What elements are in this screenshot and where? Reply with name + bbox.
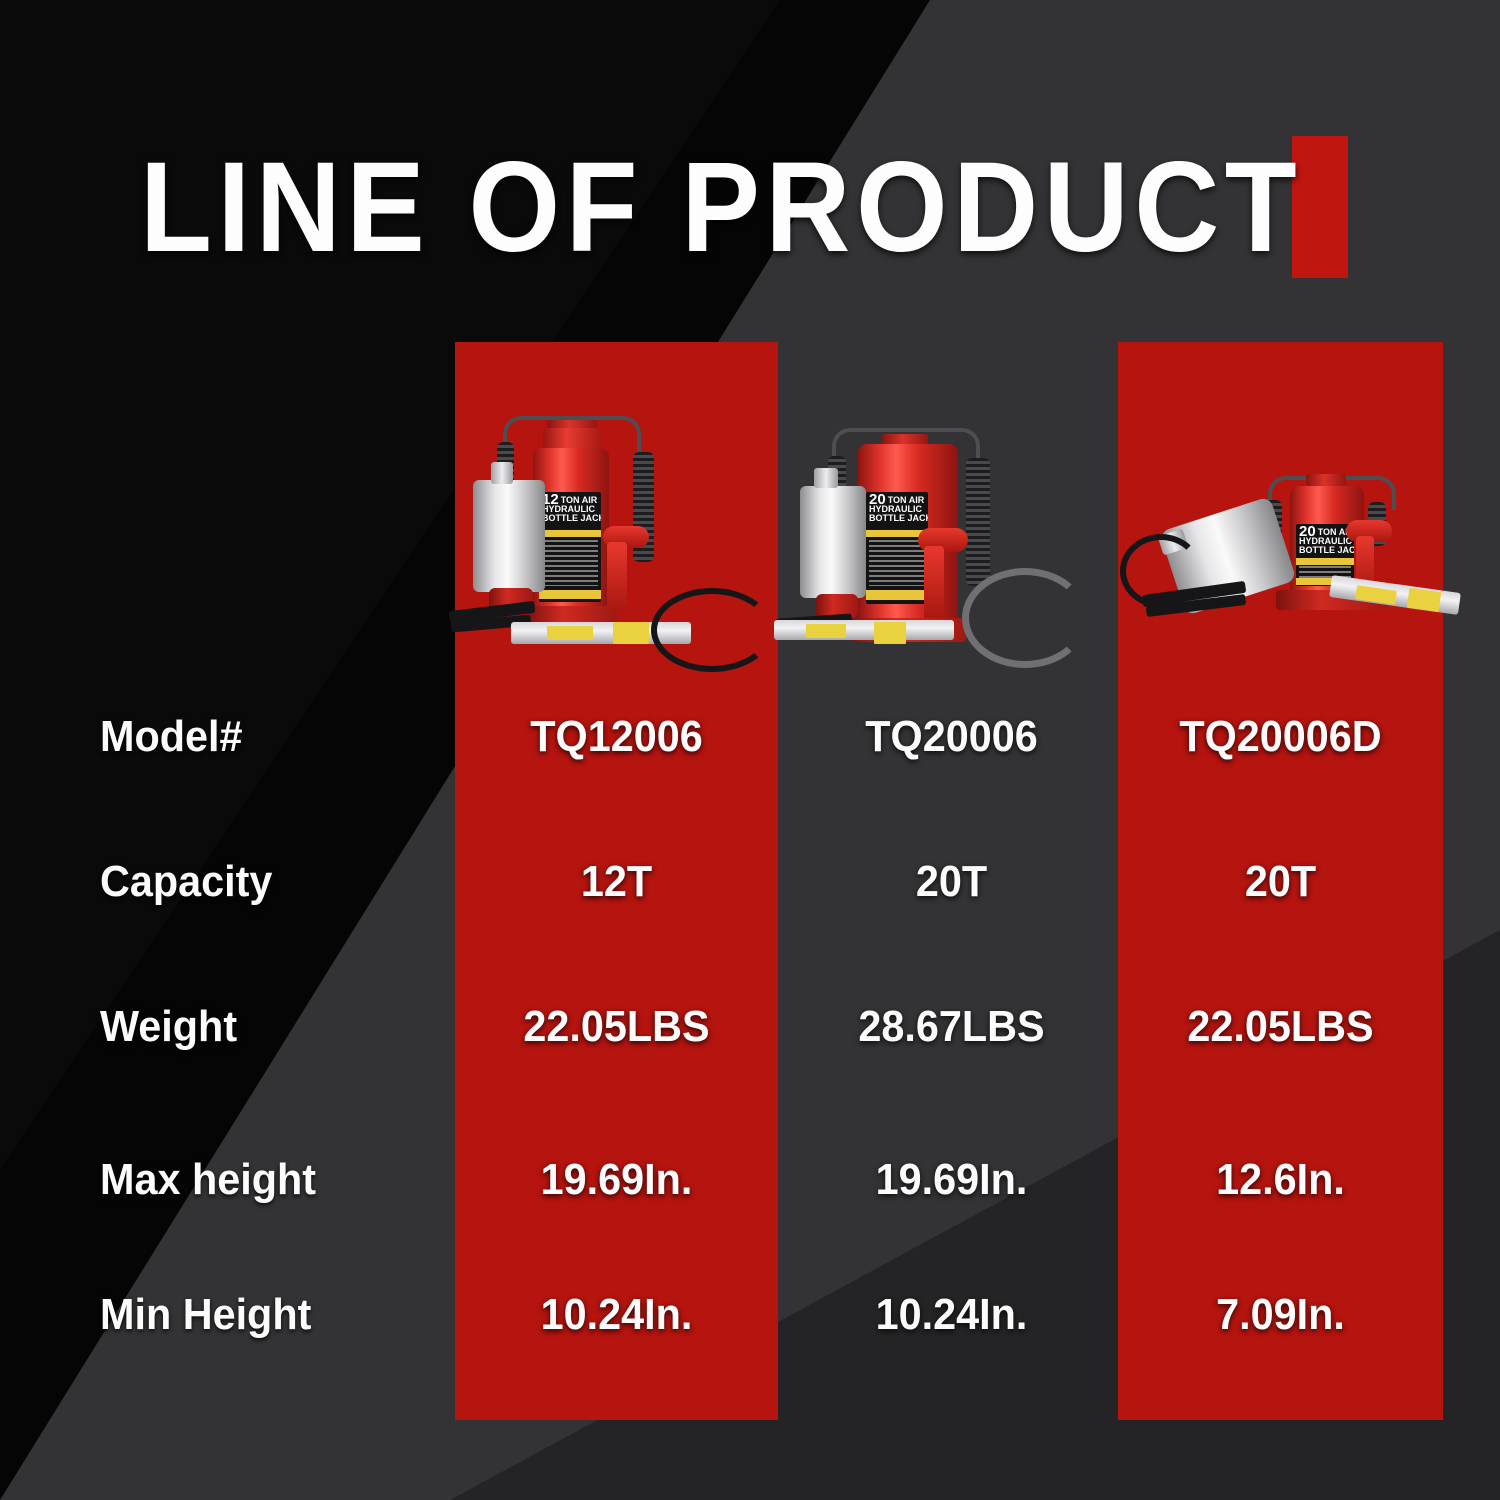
product-image-tq20006: 20TON AIRHYDRAULICBOTTLE JACK: [790, 420, 1113, 720]
spec-value-weight-col2: 28.67LBS: [800, 1002, 1104, 1052]
spec-value-min-height-col3: 7.09In.: [1128, 1290, 1434, 1340]
spec-value-weight-col1: 22.05LBS: [465, 1002, 769, 1052]
spec-label-max-height: Max height: [100, 1155, 420, 1205]
spec-label-capacity: Capacity: [100, 857, 420, 907]
spec-value-capacity-col1: 12T: [465, 857, 769, 907]
page-title-area: LINE OF PRODUCT: [140, 128, 1400, 288]
product-line-infographic: LINE OF PRODUCT 12TON AIRHYDRAULICBOTTLE…: [0, 0, 1500, 1500]
spec-value-min-height-col2: 10.24In.: [800, 1290, 1104, 1340]
spec-label-model: Model#: [100, 712, 420, 762]
product-image-tq12006: 12TON AIRHYDRAULICBOTTLE JACK: [455, 400, 778, 700]
spec-value-weight-col3: 22.05LBS: [1128, 1002, 1434, 1052]
spec-label-weight: Weight: [100, 1002, 420, 1052]
spec-value-capacity-col3: 20T: [1128, 857, 1434, 907]
spec-value-capacity-col2: 20T: [800, 857, 1104, 907]
page-title: LINE OF PRODUCT: [140, 128, 1302, 288]
spec-value-max-height-col3: 12.6In.: [1128, 1155, 1434, 1205]
spec-value-model-col1: TQ12006: [465, 712, 769, 762]
spec-value-max-height-col2: 19.69In.: [800, 1155, 1104, 1205]
spec-value-model-col2: TQ20006: [800, 712, 1104, 762]
spec-value-min-height-col1: 10.24In.: [465, 1290, 769, 1340]
spec-value-max-height-col1: 19.69In.: [465, 1155, 769, 1205]
spec-value-model-col3: TQ20006D: [1128, 712, 1434, 762]
spec-label-min-height: Min Height: [100, 1290, 420, 1340]
